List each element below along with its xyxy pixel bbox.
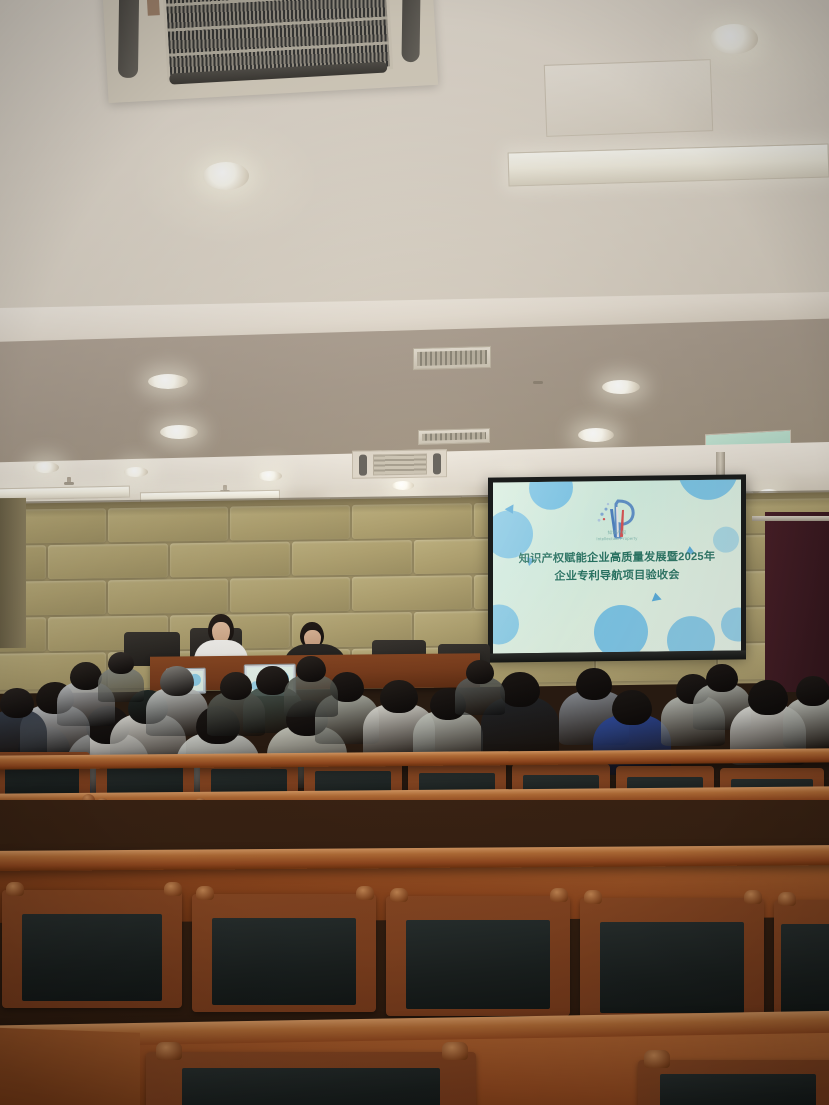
slide-decor-circle — [529, 479, 573, 510]
projected-slide: 知识产权 Intellectual Property 知识产权赋能企业高质量发展… — [493, 479, 741, 653]
attendee-head — [466, 660, 494, 684]
curtain-rail — [752, 516, 829, 521]
slide-decor-triangle — [650, 592, 661, 602]
projection-screen: 知识产权 Intellectual Property 知识产权赋能企业高质量发展… — [488, 474, 746, 659]
attendee-head — [108, 652, 134, 674]
logo-caption-en: Intellectual Property — [596, 536, 637, 542]
downlight-icon — [160, 425, 198, 439]
ac-vane-right — [401, 0, 420, 62]
seat-back — [774, 900, 829, 1022]
slide-title-line-2: 企业专利导航项目验收会 — [493, 565, 741, 584]
ac-vane-right — [433, 453, 441, 474]
slide-decor-circle — [678, 479, 738, 500]
attendee-head — [576, 668, 612, 700]
vent-slats — [417, 350, 487, 366]
slide-decor-circle — [721, 607, 741, 641]
downlight-icon — [392, 481, 414, 490]
downlight-icon — [710, 24, 758, 54]
ac-grille — [373, 454, 427, 476]
slide-decor-circle — [493, 604, 519, 644]
attendee-head — [220, 672, 252, 700]
attendee-head — [500, 672, 540, 707]
wall-curtain-panel — [765, 512, 829, 692]
seat-back — [192, 894, 376, 1012]
sprinkler-head-icon — [66, 477, 72, 486]
downlight-icon — [258, 471, 282, 481]
ac-vane-left — [118, 0, 139, 78]
downlight-icon — [33, 462, 59, 473]
attendee-head — [612, 690, 652, 725]
seat-back-foreground — [638, 1060, 829, 1105]
seat-back-foreground — [146, 1052, 476, 1105]
wall-left-shadow — [0, 498, 26, 648]
attendee-head — [0, 688, 34, 718]
attendee-head — [796, 676, 829, 706]
seat-back — [2, 890, 182, 1008]
downlight-icon — [203, 162, 249, 190]
downlight-icon — [124, 467, 148, 477]
downlight-icon — [148, 374, 188, 389]
attendee-head — [296, 656, 326, 682]
attendee-head — [380, 680, 418, 713]
sprinkler-head-icon — [535, 376, 541, 385]
seat-back — [580, 898, 764, 1020]
downlight-icon — [602, 380, 640, 394]
slide-title-line-1: 知识产权赋能企业高质量发展暨2025年 — [493, 547, 741, 566]
ceiling-vent-panel-icon — [544, 59, 713, 137]
attendee-head — [748, 680, 788, 715]
ac-label — [146, 0, 160, 16]
desk-side-panel — [0, 1027, 140, 1105]
conference-room-photo: 知识产权 Intellectual Property 知识产权赋能企业高质量发展… — [0, 0, 829, 1105]
attendee-head — [160, 666, 194, 696]
ac-vane-left — [359, 455, 367, 476]
slide-decor-circle — [667, 616, 715, 654]
slide-decor-circle — [594, 605, 648, 654]
ceiling-vent-icon — [418, 428, 490, 445]
vent-slats — [422, 432, 486, 441]
seat-back — [386, 896, 570, 1016]
ceiling-vent-icon — [413, 346, 491, 370]
ceiling-ac-cassette-small-icon — [352, 449, 447, 479]
downlight-icon — [578, 428, 614, 442]
attendee-head — [706, 664, 738, 692]
